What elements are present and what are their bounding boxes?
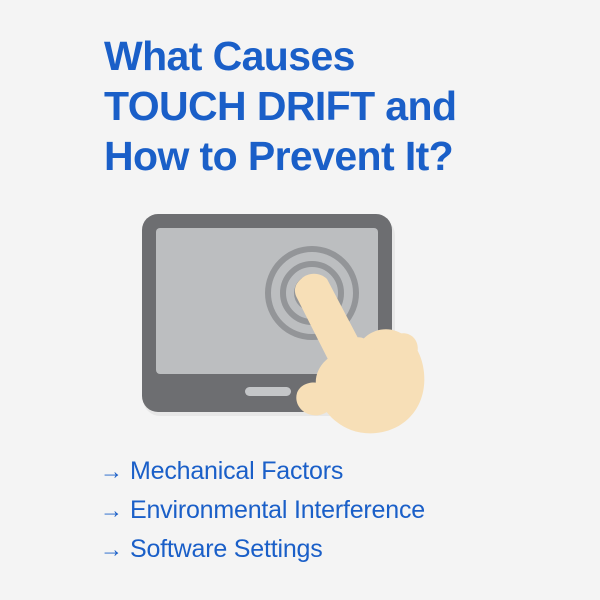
tablet-touch-illustration [130,200,460,445]
list-item[interactable]: → Mechanical Factors [100,452,540,491]
key-topics-list: → Mechanical Factors → Environmental Int… [100,452,540,569]
list-item-label: Environmental Interference [130,491,425,530]
list-item[interactable]: → Software Settings [100,530,540,569]
list-item[interactable]: → Environmental Interference [100,491,540,530]
list-item-label: Mechanical Factors [130,452,343,491]
arrow-right-icon: → [100,491,130,530]
home-button-icon [245,387,291,396]
list-item-label: Software Settings [130,530,323,569]
headline-line-3: How to Prevent It? [104,131,564,181]
poster-canvas: What Causes TOUCH DRIFT and How to Preve… [0,0,600,600]
arrow-right-icon: → [100,530,130,569]
headline-line-1: What Causes [104,31,564,81]
headline-line-2: TOUCH DRIFT and [104,81,564,131]
page-title: What Causes TOUCH DRIFT and How to Preve… [104,31,564,181]
arrow-right-icon: → [100,452,130,491]
